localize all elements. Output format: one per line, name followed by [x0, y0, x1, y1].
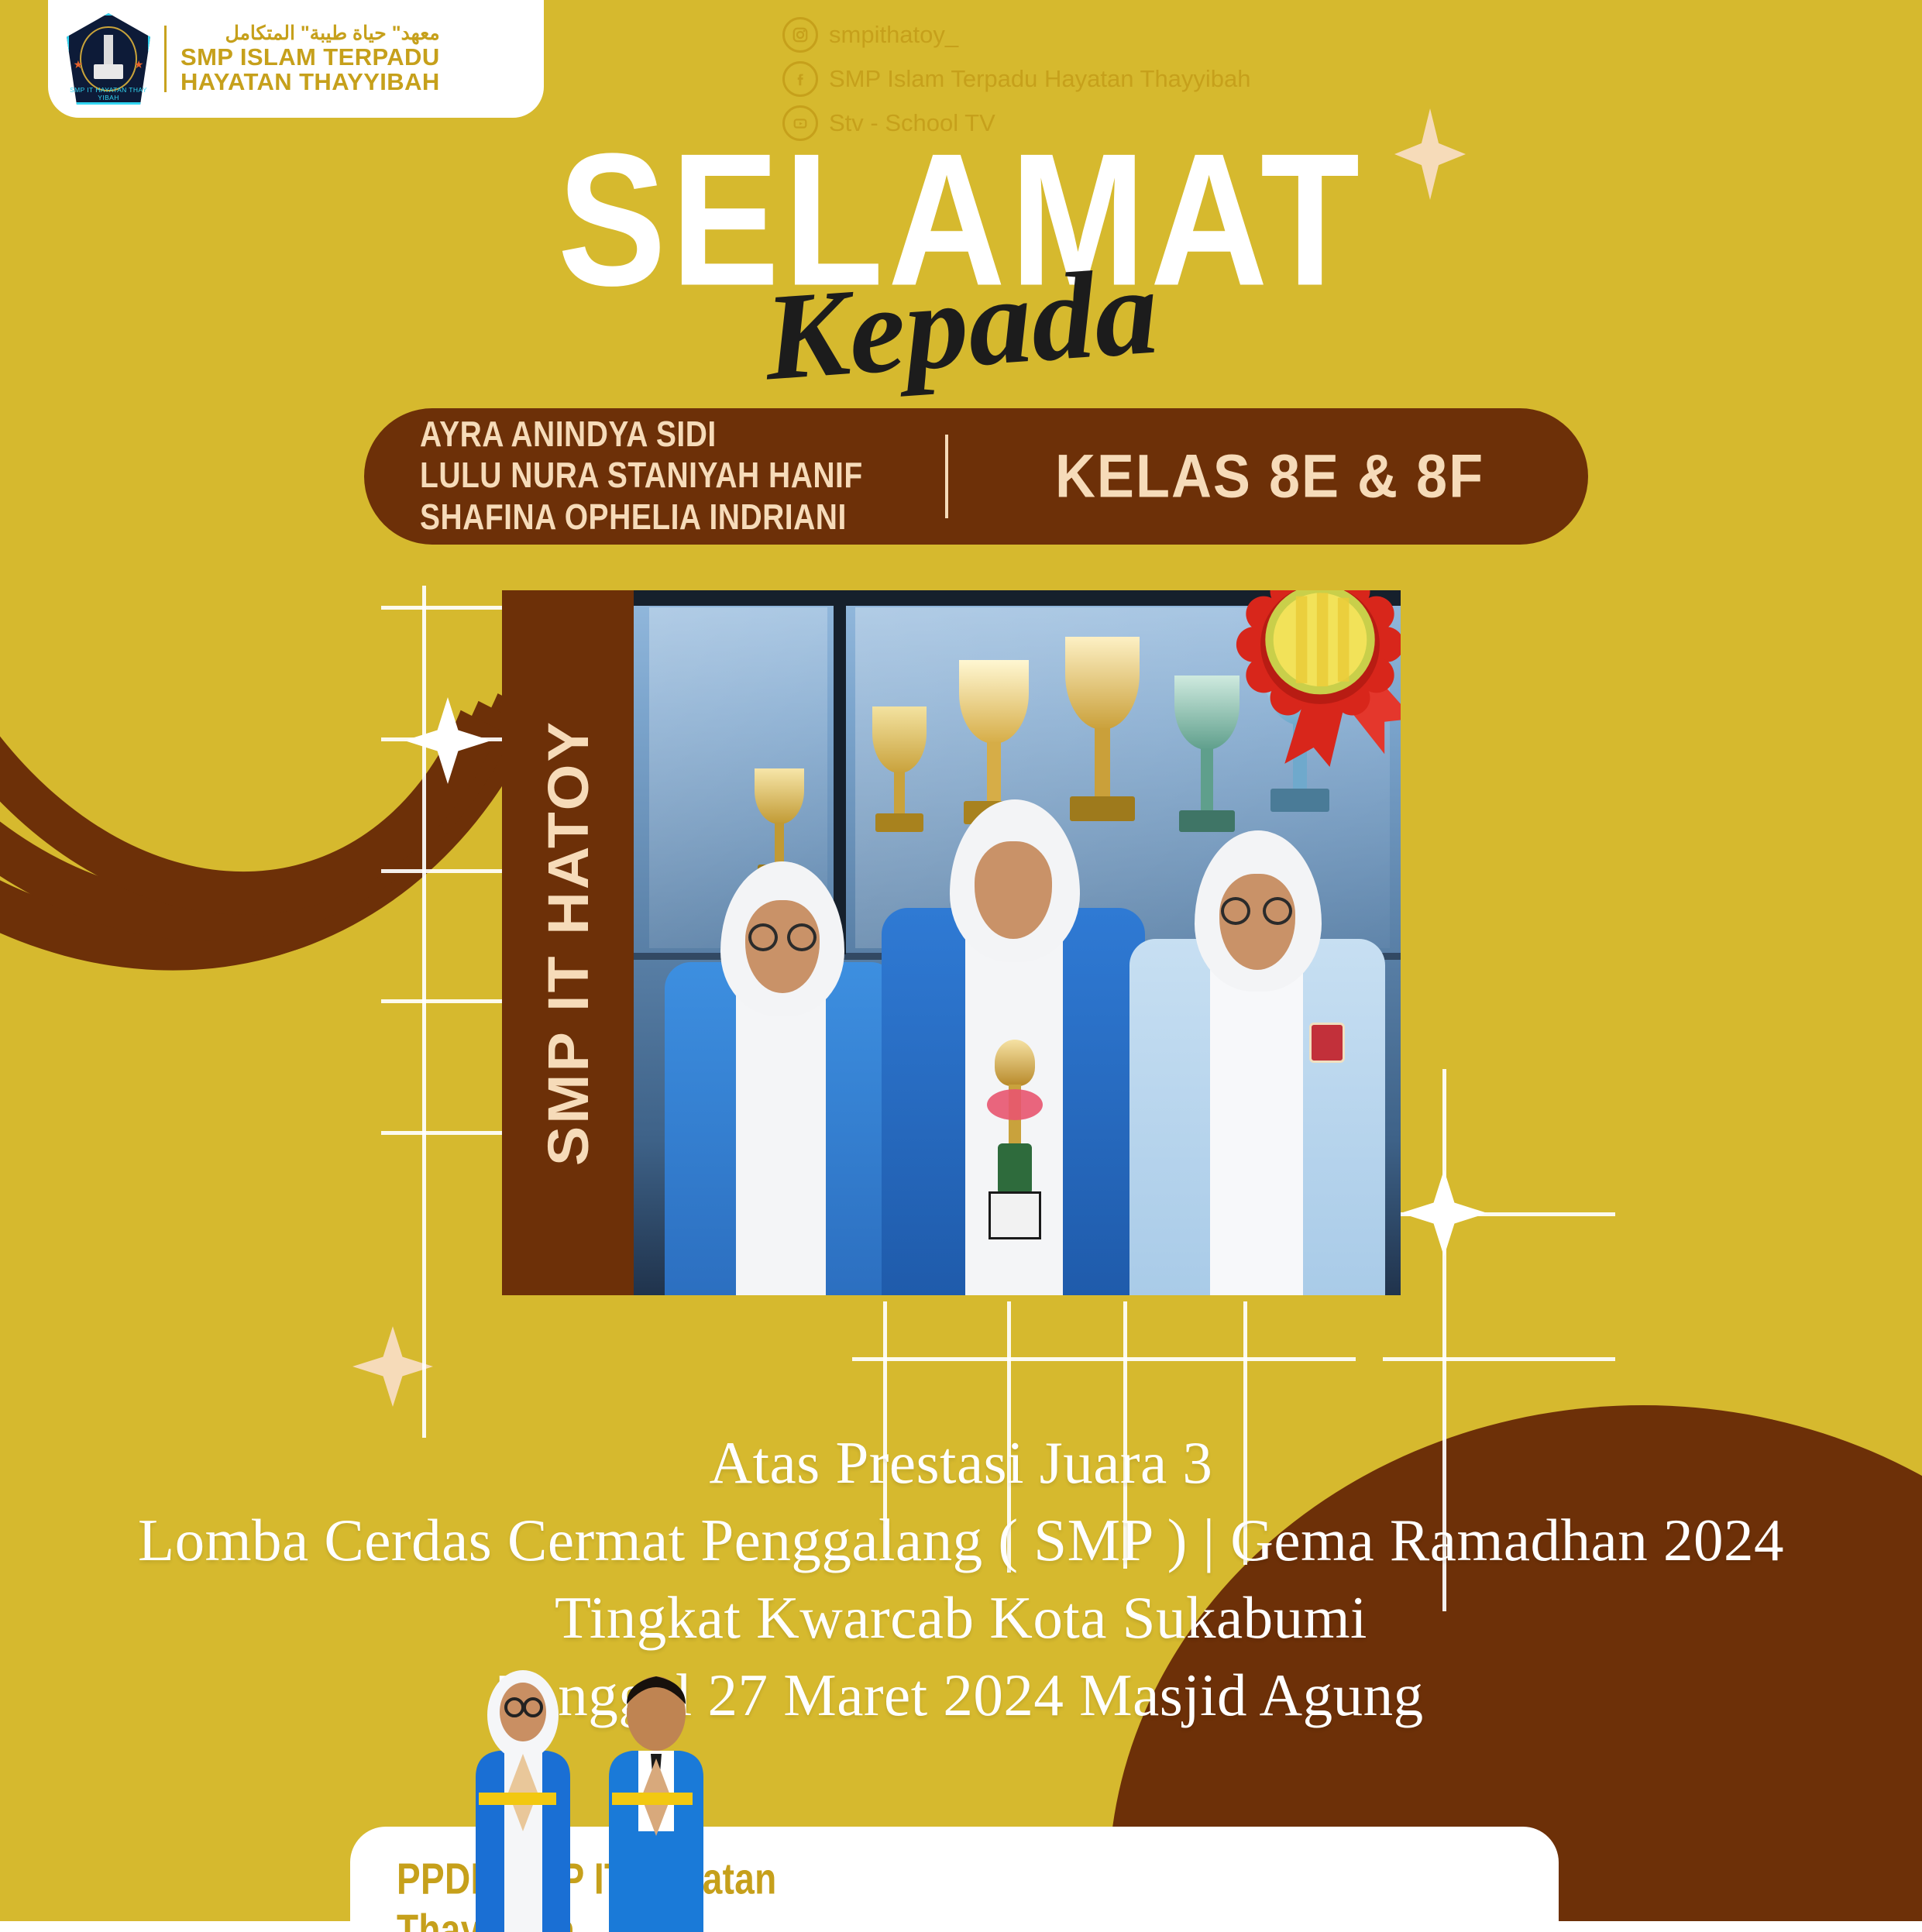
held-trophy	[975, 1040, 1055, 1249]
crest-ring-text: SMP IT HAYATAN THAY YIBAH	[67, 86, 150, 101]
student-right-badge	[1309, 1023, 1345, 1063]
award-rosette-icon	[1222, 590, 1401, 767]
grid-line-h8	[1383, 1357, 1615, 1361]
class-label: KELAS 8E & 8F	[1055, 442, 1484, 511]
student-center	[882, 799, 1145, 1295]
recipient-names-column: AYRA ANINDYA SIDI LULU NURA STANIYAH HAN…	[364, 414, 922, 538]
grid-line-v1	[422, 586, 426, 1438]
footer-social-block: smpithatoy_ SMP Islam Terpadu Hayatan Th…	[782, 17, 1185, 150]
sparkle-white-left	[404, 697, 491, 784]
instagram-icon	[782, 17, 818, 53]
photo-side-label-text: SMP IT HATOY	[535, 720, 601, 1166]
student-left-glasses-icon	[748, 923, 817, 945]
facebook-page-name: SMP Islam Terpadu Hayatan Thayyibah	[829, 65, 1251, 93]
description-line: Tingkat Kwarcab Kota Sukabumi	[0, 1579, 1922, 1656]
social-row-instagram[interactable]: smpithatoy_	[782, 17, 1185, 53]
crest-star-left-icon: ★	[74, 59, 84, 70]
youtube-channel-name: Stv - School TV	[829, 109, 995, 137]
crest-star-right-icon: ★	[134, 59, 144, 70]
headline-block: SELAMAT Kepada	[0, 130, 1922, 373]
sparkle-peach-bottomleft	[352, 1326, 433, 1407]
photo-side-label: SMP IT HATOY	[502, 590, 634, 1295]
achievement-description: Atas Prestasi Juara 3 Lomba Cerdas Cerma…	[0, 1424, 1922, 1734]
footer-students-illustration	[462, 1599, 717, 1932]
poster-canvas: ★ ★ SMP IT HAYATAN THAY YIBAH معهد" حياة…	[0, 0, 1922, 1932]
recipient-name: SHAFINA OPHELIA INDRIANI	[420, 493, 922, 542]
crest-book-shape	[94, 64, 124, 79]
school-logo-card: ★ ★ SMP IT HAYATAN THAY YIBAH معهد" حياة…	[48, 0, 544, 118]
recipients-banner: AYRA ANINDYA SIDI LULU NURA STANIYAH HAN…	[364, 408, 1588, 545]
photo-block: SMP IT HATOY	[502, 590, 1401, 1295]
grid-line-h6	[1383, 1212, 1615, 1216]
brand-line-1: SMP ISLAM TERPADU	[181, 45, 440, 70]
brand-line-2: HAYATAN THAYYIBAH	[181, 70, 440, 95]
grid-line-h7	[852, 1357, 1356, 1361]
brand-arabic-name: معهد" حياة طيبة" المتكامل	[181, 24, 440, 44]
facebook-icon	[782, 61, 818, 97]
student-right-glasses-icon	[1221, 897, 1292, 919]
crest-tower-shape	[104, 35, 114, 66]
instagram-handle: smpithatoy_	[829, 21, 958, 49]
sparkle-white-right	[1401, 1170, 1487, 1256]
student-right-inner-robe	[1210, 939, 1303, 1295]
social-row-youtube[interactable]: Stv - School TV	[782, 105, 1185, 141]
student-left	[665, 861, 897, 1295]
brand-text-block: معهد" حياة طيبة" المتكامل SMP ISLAM TERP…	[181, 24, 440, 95]
achievement-photo	[634, 590, 1401, 1295]
logo-divider	[164, 26, 167, 92]
social-row-facebook[interactable]: SMP Islam Terpadu Hayatan Thayyibah	[782, 61, 1185, 97]
student-right	[1129, 830, 1385, 1295]
class-column: KELAS 8E & 8F	[951, 445, 1588, 508]
banner-separator	[945, 435, 948, 518]
description-line: Atas Prestasi Juara 3	[0, 1424, 1922, 1501]
description-line: Lomba Cerdas Cermat Penggalang ( SMP ) |…	[0, 1501, 1922, 1579]
youtube-icon	[782, 105, 818, 141]
school-crest-icon: ★ ★ SMP IT HAYATAN THAY YIBAH	[67, 13, 150, 105]
description-line: Tanggal 27 Maret 2024 Masjid Agung	[0, 1656, 1922, 1734]
